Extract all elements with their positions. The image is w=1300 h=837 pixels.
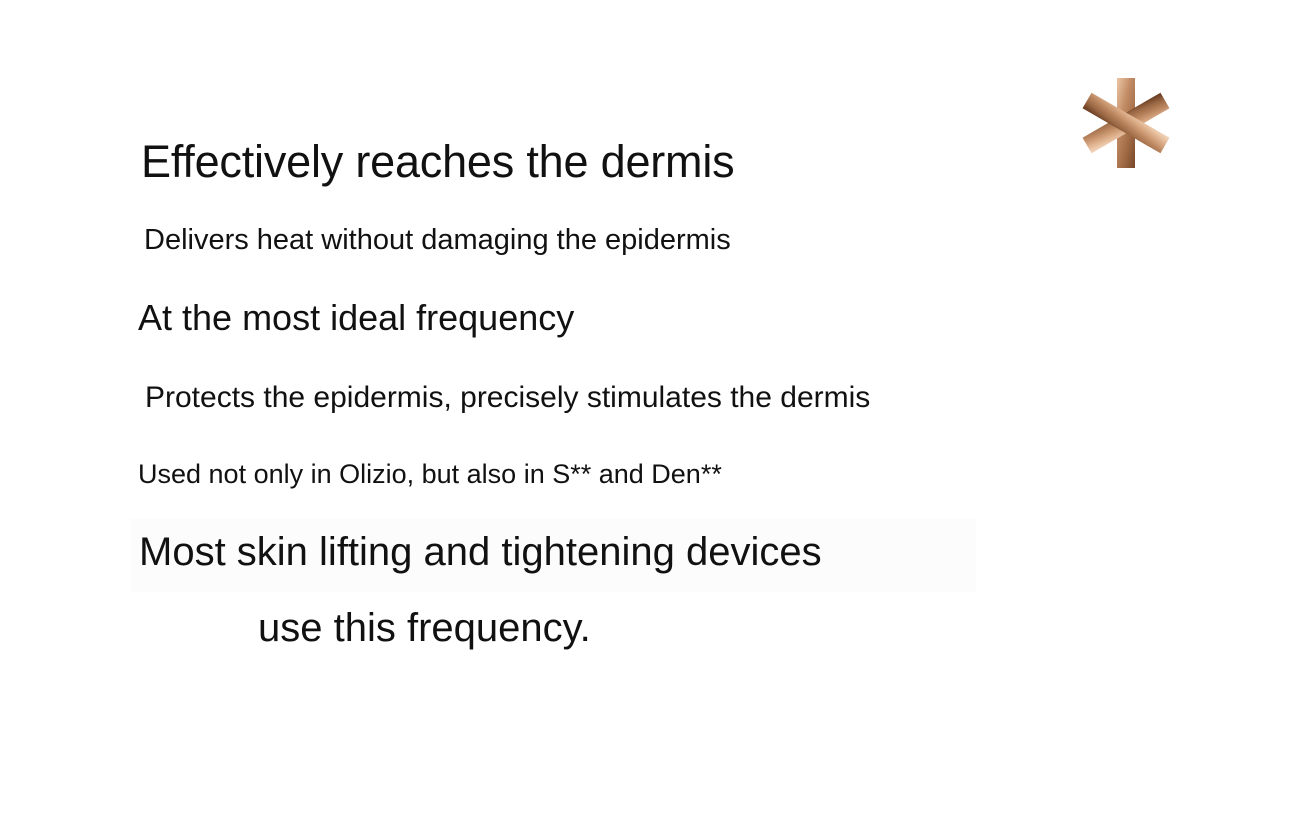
emphasis-line-use-this-frequency: use this frequency.: [258, 606, 591, 651]
slide-canvas: Effectively reaches the dermis Delivers …: [0, 0, 1300, 837]
headline-ideal-frequency: At the most ideal frequency: [138, 297, 574, 339]
subtext-delivers-heat: Delivers heat without damaging the epide…: [144, 224, 731, 257]
subtext-used-in-devices: Used not only in Olizio, but also in S**…: [138, 459, 722, 490]
emphasis-line-most-skin-lifting-devices: Most skin lifting and tightening devices: [139, 530, 822, 575]
slide-text-content: Effectively reaches the dermis Delivers …: [0, 0, 1300, 837]
subtext-protects-epidermis: Protects the epidermis, precisely stimul…: [145, 381, 870, 415]
headline-effectively-reaches-the-dermis: Effectively reaches the dermis: [141, 136, 734, 188]
